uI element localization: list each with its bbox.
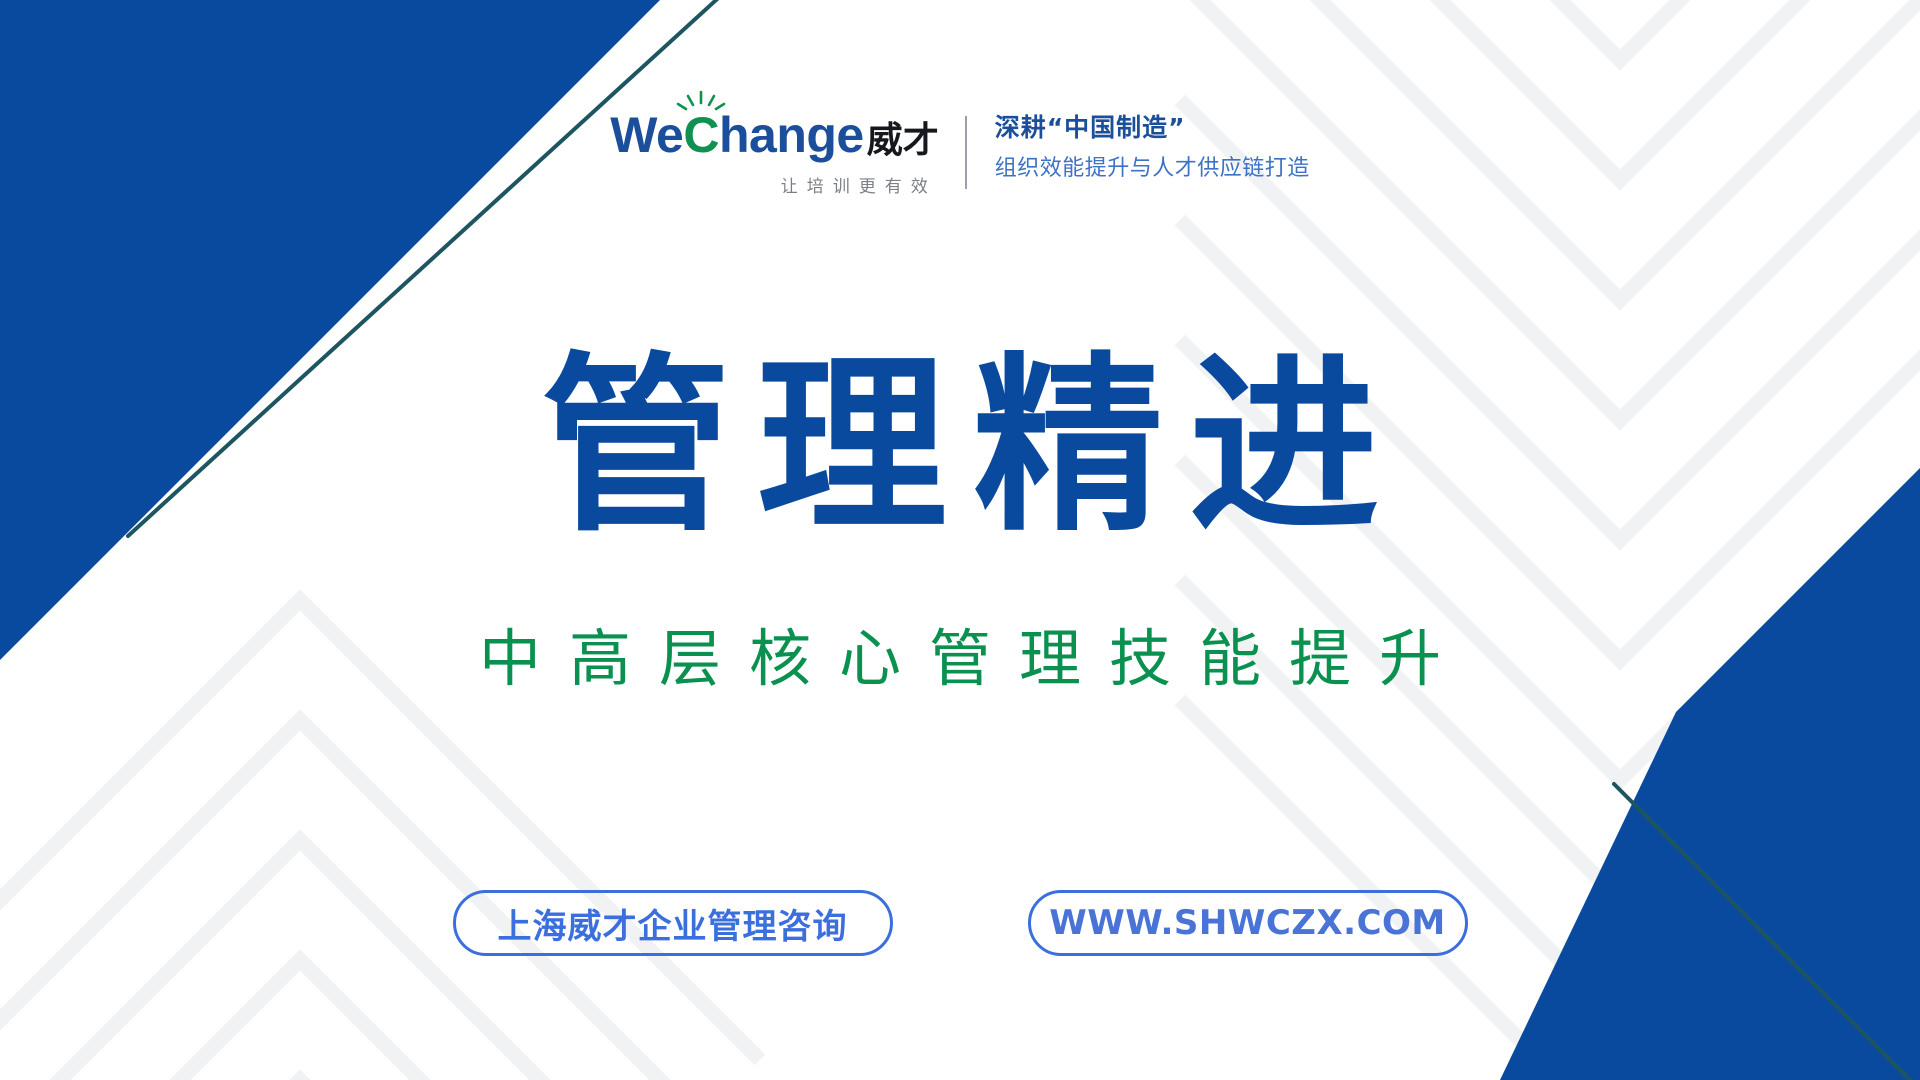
slogan-block: 深耕“中国制造” 组织效能提升与人才供应链打造 [967,110,1310,183]
brand-logo: We C hange 威才 让培训更有效 [610,110,964,197]
slogan-main: 深耕“中国制造” [995,112,1310,143]
logo-wordmark: We C hange 威才 [610,110,938,160]
logo-tagline: 让培训更有效 [781,172,939,197]
page-title: 管理精进 [0,352,1920,542]
logo-text-hange: hange [719,110,864,160]
logo-c-group: C [683,110,719,160]
logo-text-chinese: 威才 [867,123,939,159]
blue-corner-triangle-top-left [0,0,660,660]
footer-pill-row: 上海威才企业管理咨询 WWW.SHWCZX.COM [0,890,1920,956]
company-name-pill[interactable]: 上海威才企业管理咨询 [453,890,893,956]
logo-lockup: We C hange 威才 让培训更有效 [0,110,1920,197]
logo-text-we: We [610,110,683,160]
slogan-sub: 组织效能提升与人才供应链打造 [995,155,1310,183]
website-pill[interactable]: WWW.SHWCZX.COM [1028,890,1468,956]
blue-corner-shape-bottom-right [1500,468,1920,1080]
poster-canvas: We C hange 威才 让培训更有效 [0,0,1920,1080]
sun-rays-icon [670,90,732,116]
page-subtitle: 中高层核心管理技能提升 [0,628,1920,690]
